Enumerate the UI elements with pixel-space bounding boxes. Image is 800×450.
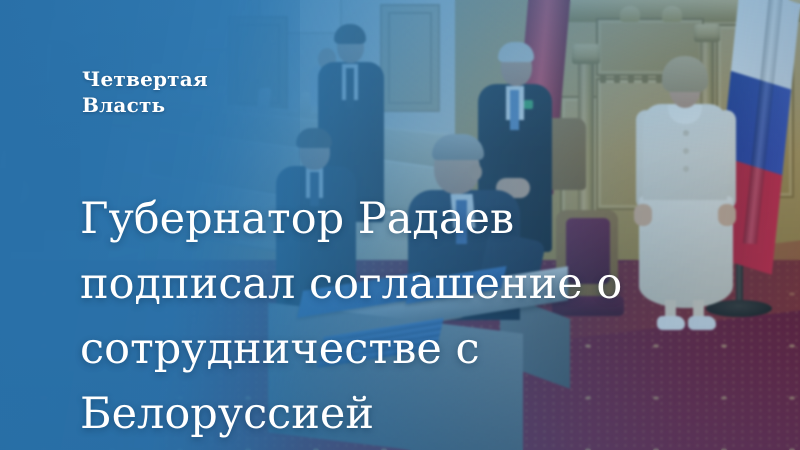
jacket-button bbox=[683, 148, 689, 154]
headline-line: Губернатор Радаев bbox=[80, 194, 514, 244]
wood-capital bbox=[694, 24, 720, 42]
necktie bbox=[39, 48, 47, 92]
hair bbox=[662, 56, 708, 92]
hall-door bbox=[380, 4, 440, 112]
headline-line: Белоруссией bbox=[80, 389, 374, 439]
shoe-right bbox=[688, 316, 716, 330]
wood-dentil bbox=[642, 74, 648, 83]
necktie bbox=[510, 90, 519, 130]
jacket-button bbox=[683, 166, 689, 172]
headline-line: сотрудничестве с bbox=[80, 324, 480, 374]
desk-lamp bbox=[213, 86, 227, 108]
wood-dentil bbox=[600, 74, 606, 83]
article-headline: Губернатор Радаев подписал соглашение о … bbox=[80, 187, 640, 447]
hair bbox=[22, 2, 56, 20]
wood-crest-ornament bbox=[620, 6, 640, 22]
shoe-left bbox=[657, 316, 685, 330]
wood-dentil bbox=[628, 74, 634, 83]
necktie bbox=[346, 68, 354, 108]
hair bbox=[334, 24, 366, 44]
hand-right bbox=[718, 204, 736, 226]
news-share-card: Четвертая Власть Губернатор Радаев подпи… bbox=[0, 0, 800, 450]
hair bbox=[498, 42, 534, 62]
headline-line: подписал соглашение о bbox=[80, 259, 622, 309]
torso bbox=[0, 200, 44, 252]
face bbox=[8, 178, 30, 204]
wood-crest-ornament bbox=[662, 6, 682, 22]
ear bbox=[470, 164, 482, 180]
jacket-button bbox=[683, 130, 689, 136]
hair bbox=[296, 128, 332, 148]
site-logo[interactable]: Четвертая Власть bbox=[82, 66, 208, 118]
hair bbox=[432, 134, 484, 160]
wood-dentil bbox=[614, 74, 620, 83]
lapel-pin bbox=[524, 100, 533, 109]
desk-lamp bbox=[257, 88, 271, 110]
wood-capital bbox=[572, 44, 600, 64]
